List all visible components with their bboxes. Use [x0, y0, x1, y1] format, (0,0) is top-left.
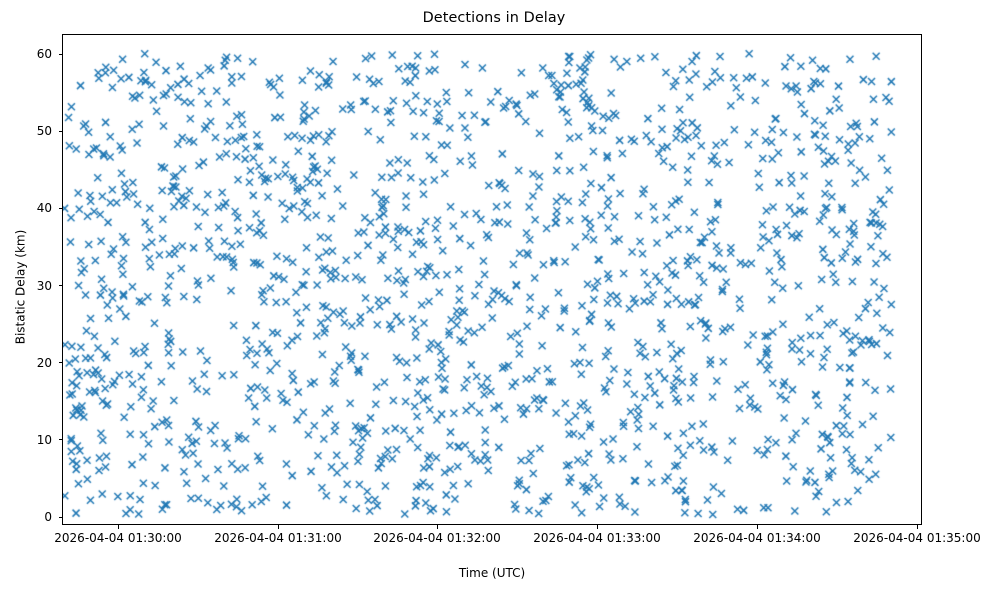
- y-axis-tick-mark: [59, 439, 63, 440]
- y-axis-tick-mark: [59, 362, 63, 363]
- x-axis-tick-label: 2026-04-04 01:34:00: [693, 531, 820, 545]
- x-axis-tick-label: 2026-04-04 01:31:00: [214, 531, 341, 545]
- y-axis-tick-mark: [59, 131, 63, 132]
- chart-title: Detections in Delay: [0, 10, 988, 26]
- y-axis-tick-mark: [59, 517, 63, 518]
- x-axis-tick-label: 2026-04-04 01:35:00: [853, 531, 980, 545]
- y-axis-tick-mark: [59, 54, 63, 55]
- scatter-plot-canvas: [63, 35, 923, 526]
- figure-canvas: Detections in Delay 0102030405060 2026-0…: [0, 0, 988, 590]
- x-axis-tick-label: 2026-04-04 01:32:00: [373, 531, 500, 545]
- y-axis-tick-mark: [59, 208, 63, 209]
- y-axis-label: Bistatic Delay (km): [14, 41, 28, 532]
- plot-axes: [62, 34, 922, 525]
- x-axis-tick-mark: [597, 525, 598, 529]
- x-axis-tick-mark: [437, 525, 438, 529]
- x-axis-tick-mark: [118, 525, 119, 529]
- x-axis-tick-mark: [757, 525, 758, 529]
- x-axis-tick-label: 2026-04-04 01:33:00: [533, 531, 660, 545]
- x-axis-tick-mark: [278, 525, 279, 529]
- x-axis-label: Time (UTC): [62, 566, 922, 580]
- x-axis-tick-label: 2026-04-04 01:30:00: [54, 531, 181, 545]
- x-axis-tick-mark: [917, 525, 918, 529]
- y-axis-tick-mark: [59, 285, 63, 286]
